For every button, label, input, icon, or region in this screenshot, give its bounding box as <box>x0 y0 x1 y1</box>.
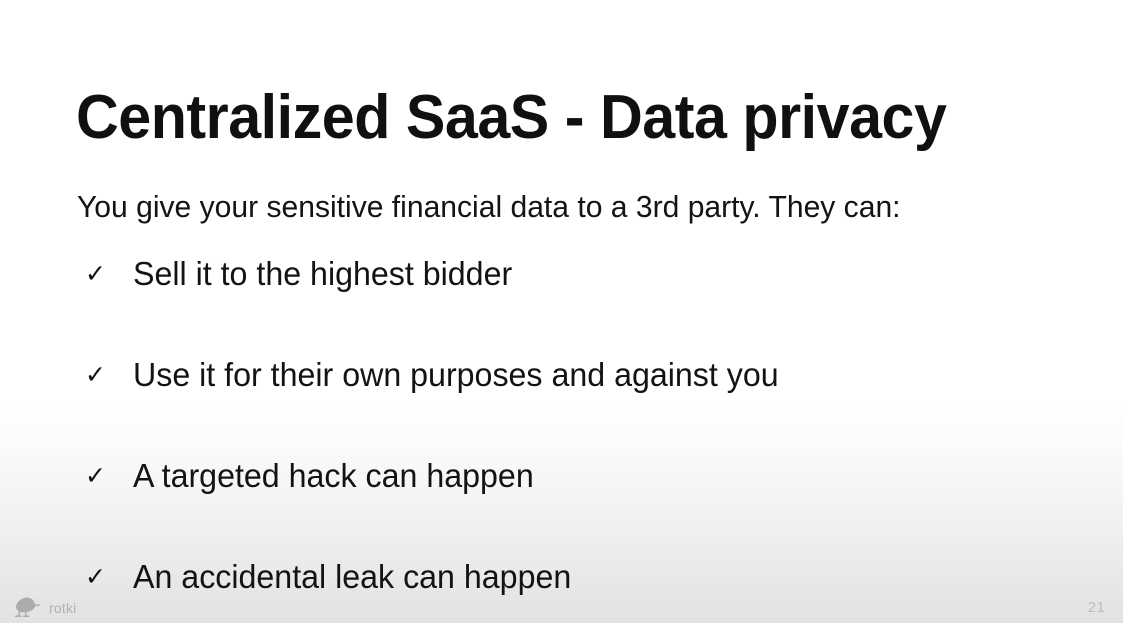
page-title: Centralized SaaS - Data privacy <box>76 85 946 152</box>
list-item: ✓ Use it for their own purposes and agai… <box>77 351 1057 452</box>
list-item-label: A targeted hack can happen <box>133 456 1034 496</box>
bullet-list: ✓ Sell it to the highest bidder ✓ Use it… <box>77 250 1057 623</box>
checkmark-icon: ✓ <box>77 557 133 597</box>
presentation-slide: Centralized SaaS - Data privacy You give… <box>0 0 1123 623</box>
list-item-label: An accidental leak can happen <box>133 557 1034 597</box>
checkmark-icon: ✓ <box>77 355 133 395</box>
checkmark-icon: ✓ <box>77 456 133 496</box>
list-item: ✓ Sell it to the highest bidder <box>77 250 1057 351</box>
slide-subtitle: You give your sensitive financial data t… <box>77 189 901 226</box>
list-item: ✓ A targeted hack can happen <box>77 452 1057 553</box>
checkmark-icon: ✓ <box>77 254 133 294</box>
list-item-label: Use it for their own purposes and agains… <box>133 355 1034 395</box>
list-item-label: Sell it to the highest bidder <box>133 254 1034 294</box>
brand-name-label: rotki <box>49 600 76 616</box>
list-item: ✓ An accidental leak can happen <box>77 553 1057 623</box>
page-number: 21 <box>1088 599 1105 616</box>
kiwi-bird-icon <box>12 597 42 619</box>
footer-brand: rotki <box>12 597 76 619</box>
